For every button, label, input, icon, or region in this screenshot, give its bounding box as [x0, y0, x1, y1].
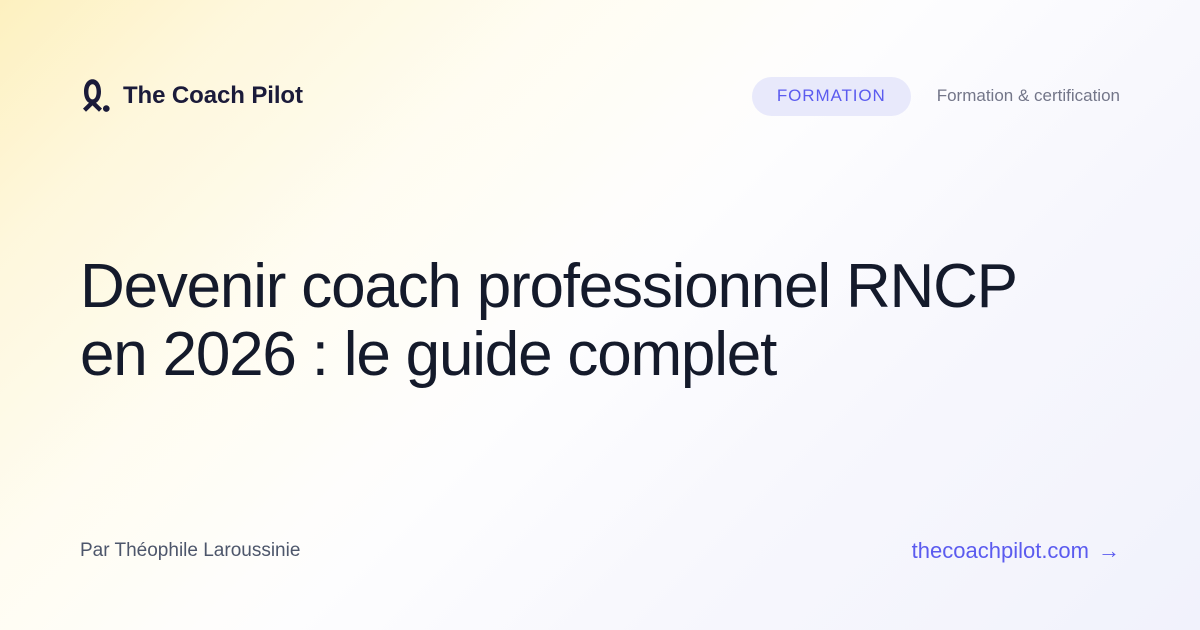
- site-link[interactable]: thecoachpilot.com →: [912, 538, 1120, 564]
- site-link-label: thecoachpilot.com: [912, 538, 1089, 564]
- page-title: Devenir coach professionnel RNCP en 2026…: [80, 253, 1080, 389]
- open-graph-card: The Coach Pilot FORMATION Formation & ce…: [0, 0, 1200, 630]
- author-byline: Par Théophile Laroussinie: [80, 540, 300, 562]
- header-caption: Formation & certification: [937, 86, 1120, 106]
- card-footer: Par Théophile Laroussinie thecoachpilot.…: [80, 538, 1120, 570]
- title-block: Devenir coach professionnel RNCP en 2026…: [80, 104, 1120, 538]
- arrow-right-icon: →: [1098, 540, 1120, 562]
